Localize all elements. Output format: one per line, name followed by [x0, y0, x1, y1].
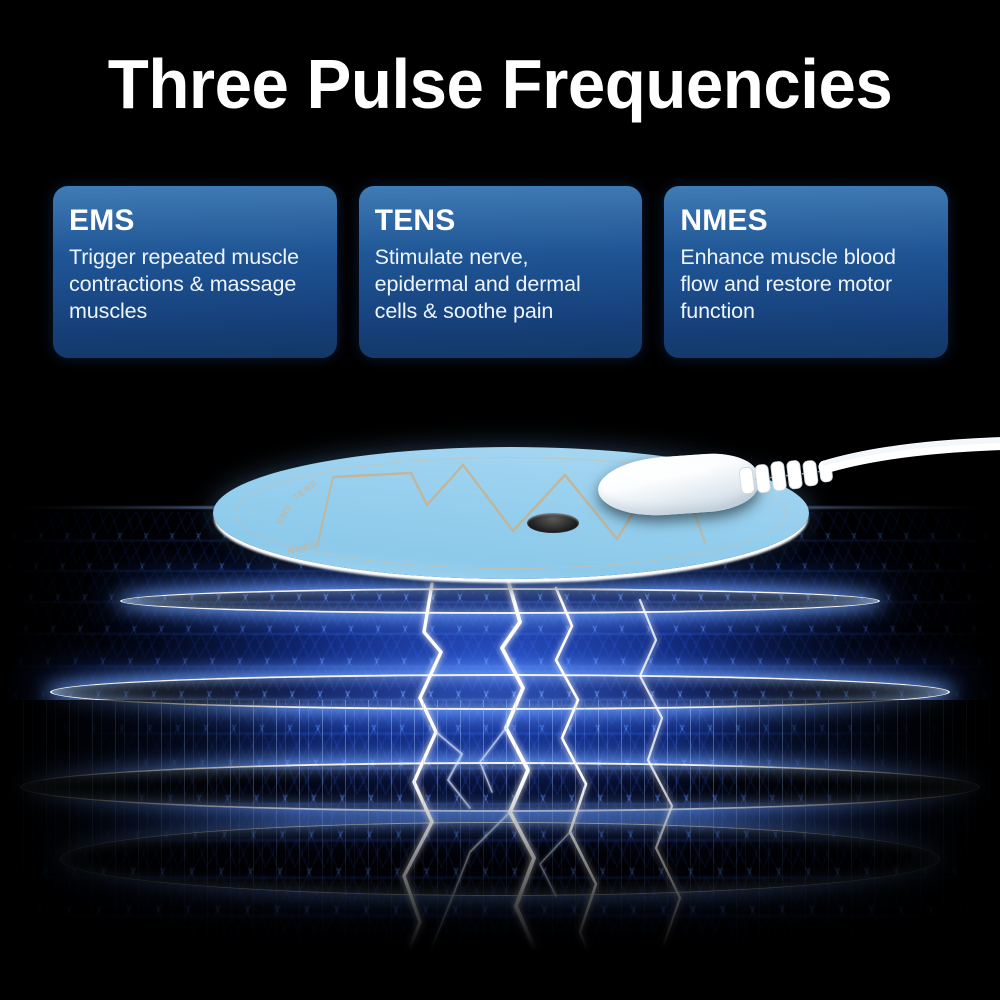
card-line: cells & soothe pain: [375, 298, 627, 325]
card-title-ems: EMS: [69, 204, 321, 238]
connector-highlight: [615, 462, 712, 489]
card-title-nmes: NMES: [680, 204, 932, 238]
page-title: Three Pulse Frequencies: [20, 48, 980, 120]
card-title-tens: TENS: [375, 204, 627, 238]
card-line: Trigger repeated muscle: [69, 244, 321, 271]
card-body-tens: Stimulate nerve, epidermal and dermal ce…: [375, 244, 627, 325]
product-feature-banner: Three Pulse Frequencies EMS Trigger repe…: [0, 0, 1000, 1000]
card-body-ems: Trigger repeated muscle contractions & m…: [69, 244, 321, 325]
card-line: Stimulate nerve,: [375, 244, 627, 271]
power-cable: [825, 441, 1000, 485]
card-line: Enhance muscle blood: [680, 244, 932, 271]
feature-card-ems[interactable]: EMS Trigger repeated muscle contractions…: [53, 186, 337, 358]
card-body-nmes: Enhance muscle blood flow and restore mo…: [680, 244, 932, 325]
card-line: epidermal and dermal: [375, 271, 627, 298]
card-line: function: [680, 298, 932, 325]
feature-card-nmes[interactable]: NMES Enhance muscle blood flow and resto…: [664, 186, 948, 358]
card-line: muscles: [69, 298, 321, 325]
pad-snap-button[interactable]: [527, 513, 579, 533]
vertical-light-streaks: [0, 700, 1000, 1000]
card-line: contractions & massage: [69, 271, 321, 298]
feature-card-row: EMS Trigger repeated muscle contractions…: [53, 186, 948, 358]
feature-card-tens[interactable]: TENS Stimulate nerve, epidermal and derm…: [359, 186, 643, 358]
electrode-pad-assembly: TENS EMS NMES: [213, 447, 813, 587]
card-line: flow and restore motor: [680, 271, 932, 298]
